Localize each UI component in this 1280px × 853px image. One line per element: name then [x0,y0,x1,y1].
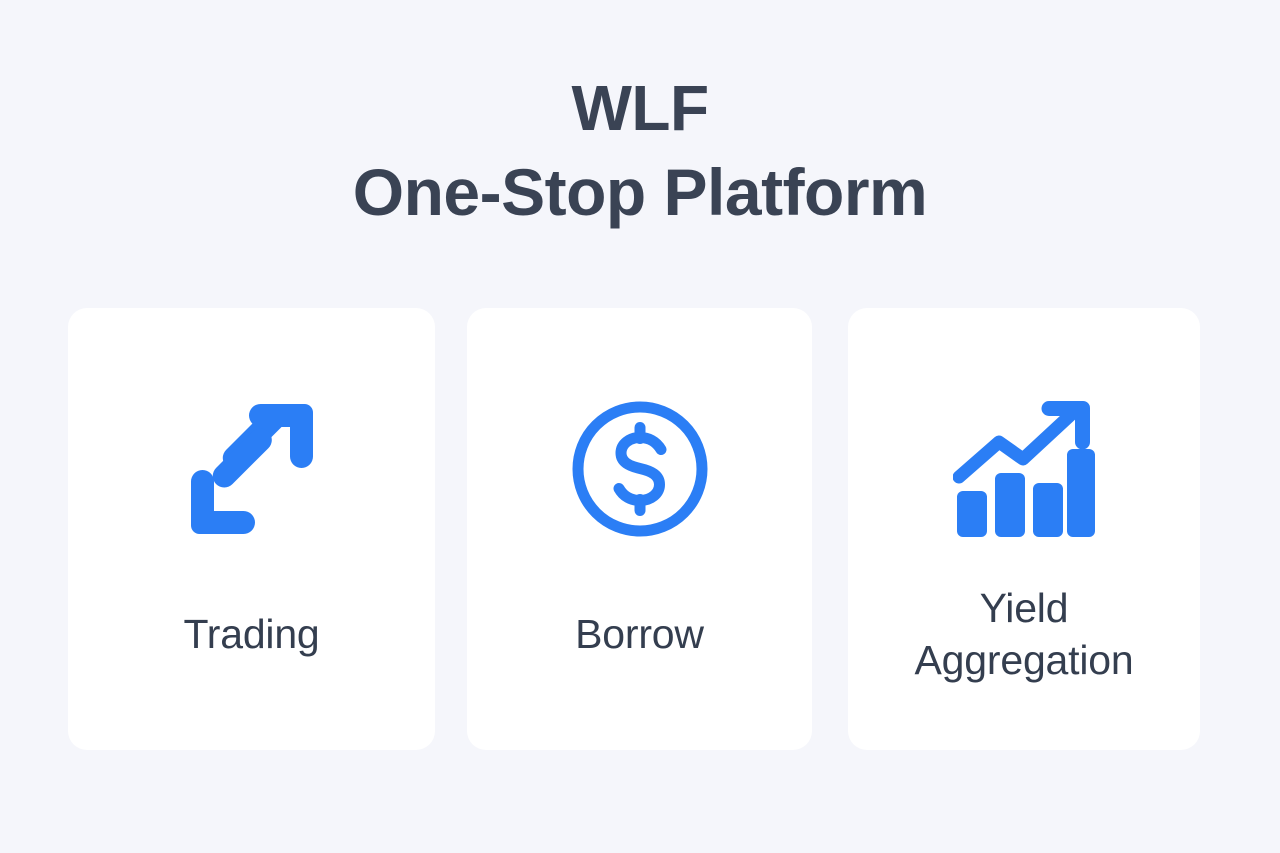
platform-overview-page: WLF One-Stop Platform [0,0,1280,853]
page-title: WLF One-Stop Platform [0,66,1280,234]
bar-chart-growth-icon [848,394,1200,544]
diagonal-resize-arrows-icon [68,394,435,544]
feature-card-label-trading: Trading [68,608,435,660]
feature-card-trading[interactable]: Trading [68,308,435,750]
page-title-line-1: WLF [0,66,1280,150]
feature-card-borrow[interactable]: Borrow [467,308,812,750]
dollar-circle-icon [467,394,812,544]
page-title-line-2: One-Stop Platform [0,150,1280,234]
feature-card-yield-aggregation[interactable]: Yield Aggregation [848,308,1200,750]
feature-card-label-yield-aggregation: Yield Aggregation [848,582,1200,686]
feature-card-label-borrow: Borrow [467,608,812,660]
feature-card-list: Trading Borrow [68,308,1200,750]
